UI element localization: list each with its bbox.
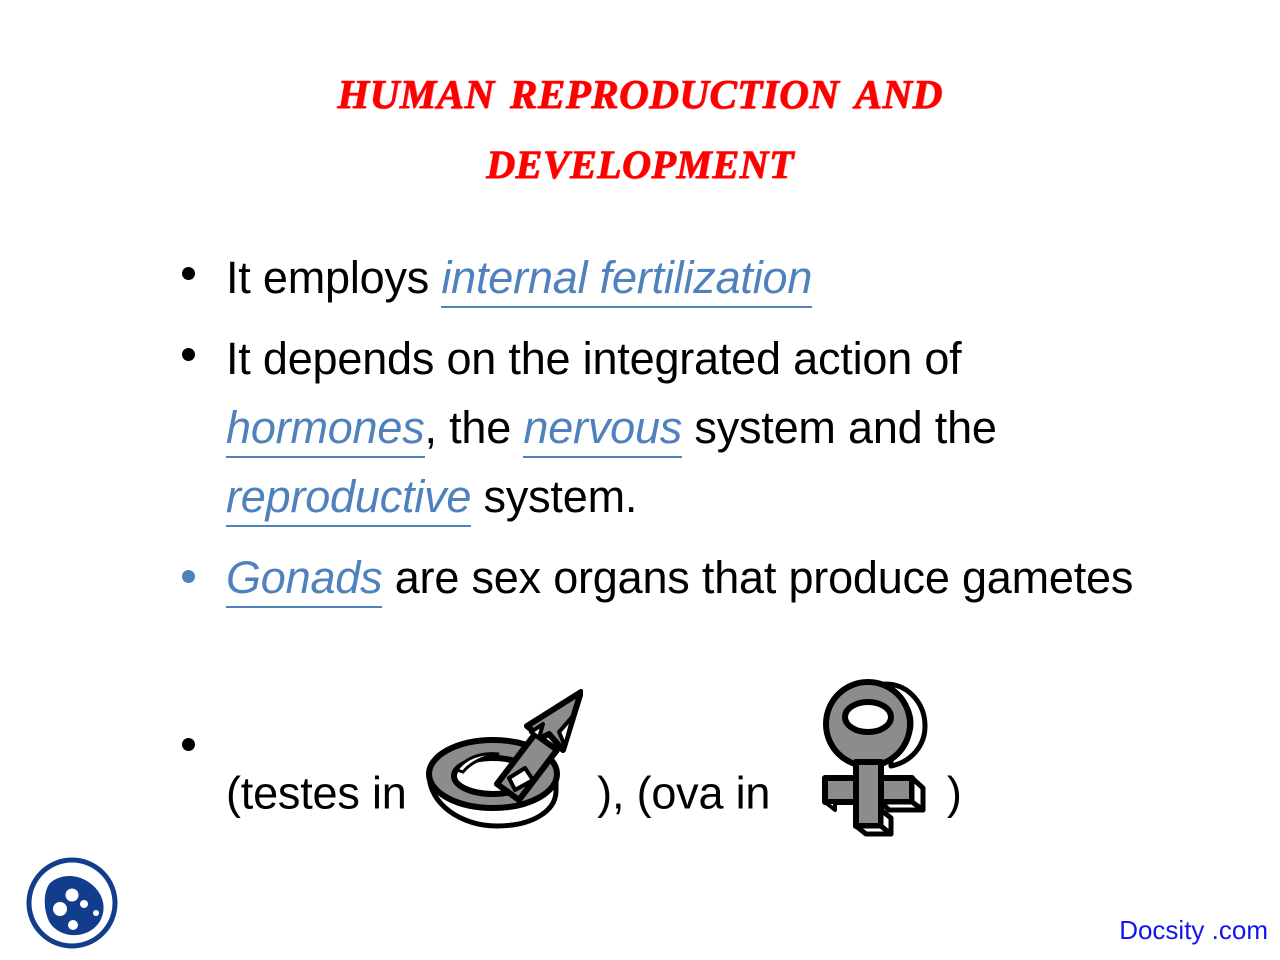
list-item: (testes in	[178, 714, 1178, 879]
list-item-text: It employs internal fertilization	[226, 243, 1178, 312]
docsity-logo	[22, 853, 122, 953]
term-internal-fertilization: internal fertilization	[441, 252, 812, 308]
page-title-line-1: Human Reproduction and	[0, 52, 1280, 124]
bullet-dot-icon	[182, 738, 195, 751]
list-item: It employs internal fertilization	[178, 243, 1178, 312]
bullet2-lead-text: It depends on the integrated action of	[226, 333, 961, 384]
list-item: It depends on the integrated action of h…	[178, 324, 1178, 531]
term-reproductive: reproductive	[226, 471, 471, 527]
female-venus-symbol-icon	[811, 674, 931, 839]
list-item-text: Gonads are sex organs that produce gamet…	[226, 543, 1178, 612]
term-hormones: hormones	[226, 402, 425, 458]
term-nervous: nervous	[523, 402, 682, 458]
bullet-dot-icon	[182, 267, 195, 280]
bullet2-mid-text-1: , the	[425, 402, 524, 453]
slide-canvas: Human Reproduction and Development It em…	[0, 0, 1280, 960]
bullet3-tail-text: are sex organs that produce gametes	[382, 552, 1133, 603]
bullet2-mid-text-2: system and the	[682, 402, 997, 453]
page-title: Human Reproduction and Development	[0, 52, 1280, 196]
list-item: Gonads are sex organs that produce gamet…	[178, 543, 1178, 612]
bullet4-lead-text: (testes in	[226, 767, 419, 818]
term-gonads: Gonads	[226, 552, 382, 608]
list-item-text: (testes in	[226, 714, 1178, 879]
male-mars-symbol-icon	[423, 686, 583, 836]
page-title-line-2: Development	[0, 124, 1280, 196]
bullet-list: It employs internal fertilization It dep…	[178, 243, 1178, 883]
list-item-text: It depends on the integrated action of h…	[226, 324, 1178, 531]
bullet-dot-icon	[182, 570, 195, 583]
bullet4-mid-text: ), (ova in	[585, 767, 783, 818]
bullet4-tail-text: )	[935, 767, 962, 818]
bullet2-tail-text: system.	[471, 471, 637, 522]
bullet-dot-icon	[182, 348, 195, 361]
docsity-wordmark: Docsity .com	[1119, 915, 1268, 946]
bullet1-lead-text: It employs	[226, 252, 441, 303]
